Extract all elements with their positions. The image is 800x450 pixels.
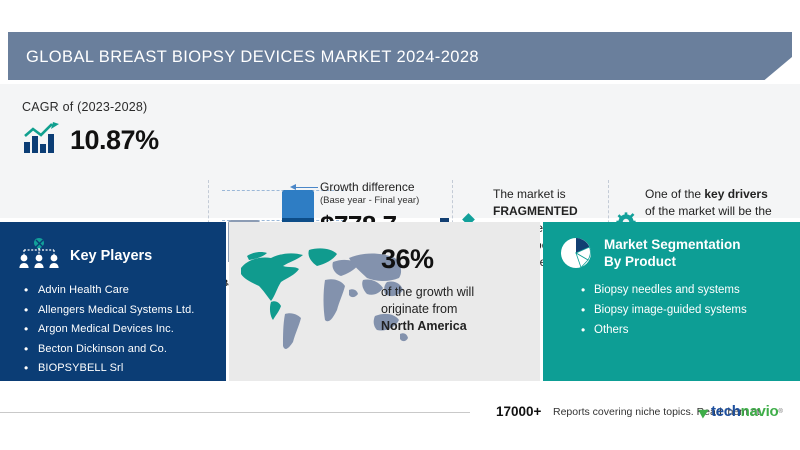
driver-line2: of the market will be the <box>645 204 772 218</box>
growth-title: Growth difference <box>320 180 445 194</box>
region-description: of the growth will originate from North … <box>381 284 531 335</box>
page-title: GLOBAL BREAST BIOPSY DEVICES MARKET 2024… <box>26 48 479 67</box>
key-players-list: Advin Health Care Allengers Medical Syst… <box>24 284 226 374</box>
footer: 17000+ Reports covering niche topics. Re… <box>0 398 800 428</box>
market-segmentation-panel: Market Segmentation By Product Biopsy ne… <box>543 222 800 381</box>
region-percent: 36% <box>381 244 531 275</box>
key-players-title: Key Players <box>70 248 152 264</box>
logo-text-navio: navio <box>741 403 779 420</box>
list-item: Biopsy image-guided systems <box>581 304 800 316</box>
frag-line1: The market is <box>493 187 566 201</box>
frag-bold1: FRAGMENTED <box>493 204 578 218</box>
list-item: Others <box>581 324 800 336</box>
top-stats-strip: CAGR of (2023-2028) 10.87% <box>0 84 800 218</box>
key-players-header: Key Players <box>0 222 226 275</box>
technavio-triangle-icon <box>698 405 711 418</box>
growth-subtitle: (Base year - Final year) <box>320 195 445 206</box>
region-highlight: North America <box>381 319 467 333</box>
infographic-page: GLOBAL BREAST BIOPSY DEVICES MARKET 2024… <box>0 0 800 450</box>
footer-divider <box>0 412 470 413</box>
technavio-logo[interactable]: tech navio ® <box>700 403 783 420</box>
callout-arrow-icon <box>290 184 296 190</box>
segmentation-list: Biopsy needles and systems Biopsy image-… <box>581 284 800 336</box>
cagr-block: CAGR of (2023-2028) 10.87% <box>22 100 207 159</box>
region-growth-text: 36% of the growth will originate from No… <box>381 244 531 335</box>
region-line1: of the growth will <box>381 285 474 299</box>
list-item: Becton Dickinson and Co. <box>24 343 226 355</box>
logo-text-tech: tech <box>711 403 741 420</box>
list-item: Biopsy needles and systems <box>581 284 800 296</box>
bar-chart-growth-icon <box>22 122 62 159</box>
org-chart-people-icon <box>18 236 60 275</box>
region-line2: originate from <box>381 302 457 316</box>
trademark-mark: ® <box>778 409 782 415</box>
map-region-north-america <box>241 248 337 320</box>
region-growth-panel: 36% of the growth will originate from No… <box>229 222 540 381</box>
segmentation-title: Market Segmentation By Product <box>604 236 754 270</box>
segmentation-header: Market Segmentation By Product <box>543 222 800 275</box>
list-item: Allengers Medical Systems Ltd. <box>24 304 226 316</box>
driver-bold1: key drivers <box>704 187 767 201</box>
pie-chart-icon <box>559 236 593 275</box>
cagr-label: CAGR of (2023-2028) <box>22 100 207 114</box>
driver-line1: One of the <box>645 187 704 201</box>
cagr-value: 10.87% <box>70 125 159 156</box>
key-players-panel: Key Players Advin Health Care Allengers … <box>0 222 226 381</box>
list-item: Advin Health Care <box>24 284 226 296</box>
list-item: BIOPSYBELL Srl <box>24 362 226 374</box>
footer-report-count: 17000+ <box>496 404 541 419</box>
list-item: Argon Medical Devices Inc. <box>24 323 226 335</box>
